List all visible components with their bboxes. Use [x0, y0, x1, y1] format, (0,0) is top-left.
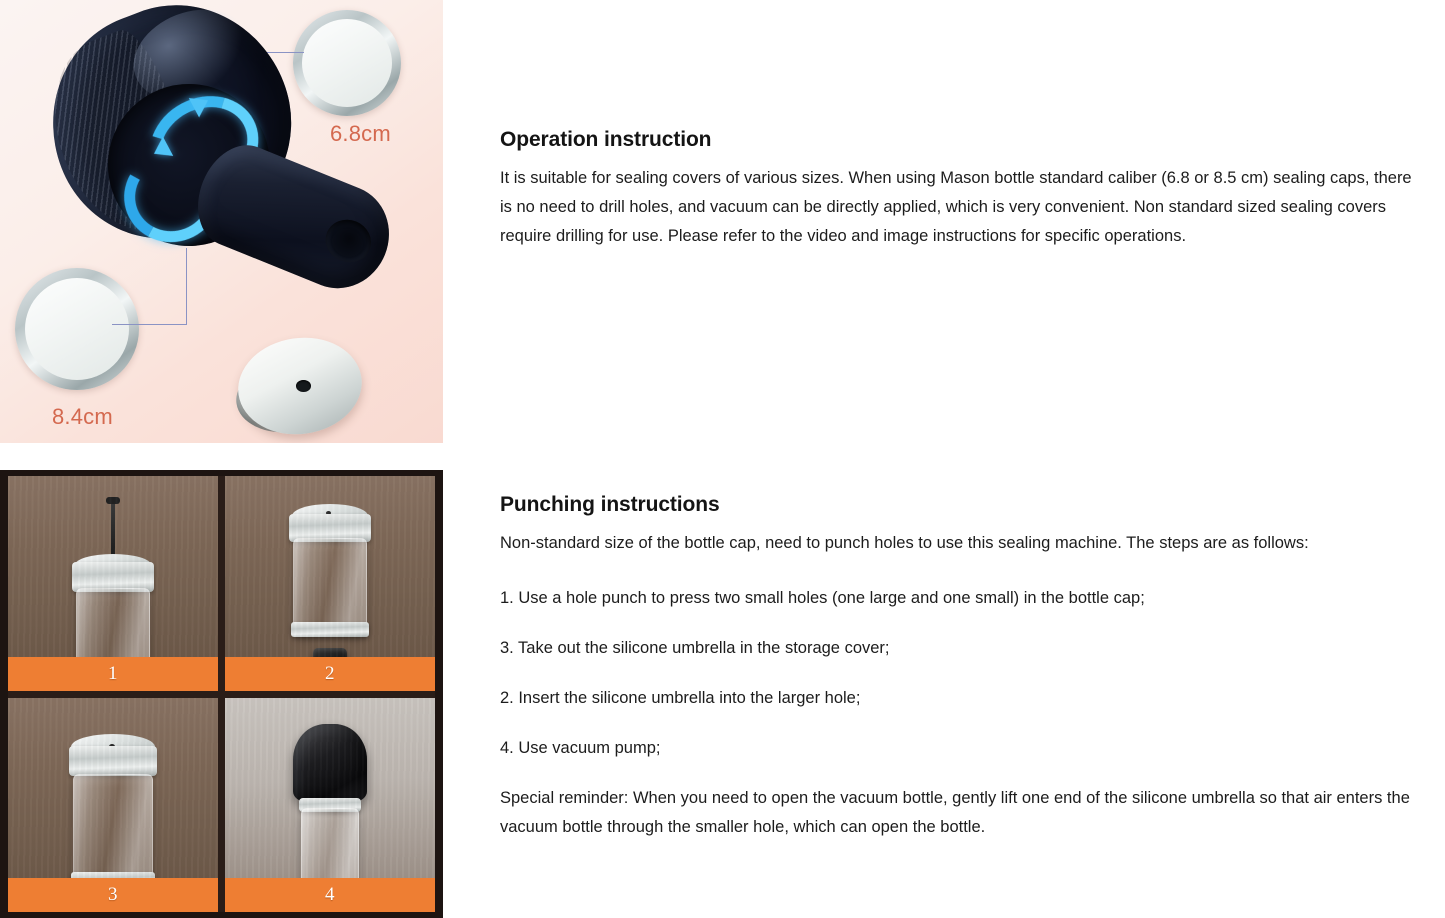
operation-paragraph: It is suitable for sealing covers of var…	[500, 164, 1428, 251]
dimension-label-68: 6.8cm	[330, 121, 391, 147]
lid-disc-84mm-icon	[15, 268, 139, 390]
jar-screw-band	[289, 514, 371, 542]
jar-glass-body	[73, 774, 153, 884]
special-reminder: Special reminder: When you need to open …	[500, 784, 1428, 842]
leader-line-84-vertical	[186, 248, 187, 324]
photo-scene-1	[8, 476, 218, 657]
punched-hole	[296, 380, 311, 392]
punching-intro: Non-standard size of the bottle cap, nee…	[500, 529, 1428, 558]
photo-cell-4: 4	[225, 698, 435, 913]
punching-step: 3. Take out the silicone umbrella in the…	[500, 634, 1428, 663]
lid-inner-surface	[25, 278, 129, 380]
instructions-text-column: Operation instruction It is suitable for…	[500, 0, 1430, 918]
lid-inner-surface	[302, 19, 392, 107]
jar-screw-band	[299, 798, 361, 812]
operation-heading: Operation instruction	[500, 128, 1428, 152]
jar-glass-body	[293, 538, 367, 634]
pump-illustration: 6.8cm 8.4cm	[0, 0, 443, 443]
punching-heading: Punching instructions	[500, 493, 1428, 517]
inserted-umbrella-dot	[109, 744, 115, 749]
photo-caption-4: 4	[225, 878, 435, 912]
punching-instruction-section: Punching instructions Non-standard size …	[500, 493, 1428, 859]
punching-step: 2. Insert the silicone umbrella into the…	[500, 684, 1428, 713]
punching-steps-figure: 1 2	[0, 470, 443, 918]
photo-cell-3: 3	[8, 698, 218, 913]
punched-lid-icon	[238, 338, 362, 434]
jar-lid-top	[75, 554, 151, 576]
dimension-label-84: 8.4cm	[52, 404, 113, 430]
hole-punch-tool-icon	[111, 502, 115, 560]
photo-scene-3	[8, 698, 218, 879]
photo-caption-1: 1	[8, 657, 218, 691]
jar-lid-top-punched	[292, 504, 368, 528]
product-instruction-page: 6.8cm 8.4cm 1	[0, 0, 1445, 918]
vacuum-pump-diagram-figure: 6.8cm 8.4cm	[0, 0, 443, 443]
punching-step: 4. Use vacuum pump;	[500, 734, 1428, 763]
photo-scene-4	[225, 698, 435, 879]
punching-step-list: 1. Use a hole punch to press two small h…	[500, 584, 1428, 763]
operation-instruction-section: Operation instruction It is suitable for…	[500, 128, 1428, 251]
punching-step: 1. Use a hole punch to press two small h…	[500, 584, 1428, 613]
vacuum-pump-on-jar-icon	[293, 724, 367, 802]
photo-cell-2: 2	[225, 476, 435, 691]
photo-caption-3: 3	[8, 878, 218, 912]
jar-screw-band	[69, 746, 157, 776]
photo-scene-2	[225, 476, 435, 657]
photo-grid: 1 2	[8, 476, 435, 912]
pump-nozzle	[184, 133, 405, 303]
jar-screw-band	[72, 562, 154, 592]
lid-disc-68mm-icon	[293, 10, 401, 116]
leader-line-84	[112, 324, 187, 325]
pump-nozzle-opening	[319, 213, 377, 269]
photo-caption-2: 2	[225, 657, 435, 691]
punched-hole-large	[326, 511, 331, 515]
photo-cell-1: 1	[8, 476, 218, 691]
jar-base-band	[291, 622, 369, 637]
jar-lid-top-with-umbrella	[71, 734, 155, 760]
punched-hole-small	[328, 519, 331, 522]
